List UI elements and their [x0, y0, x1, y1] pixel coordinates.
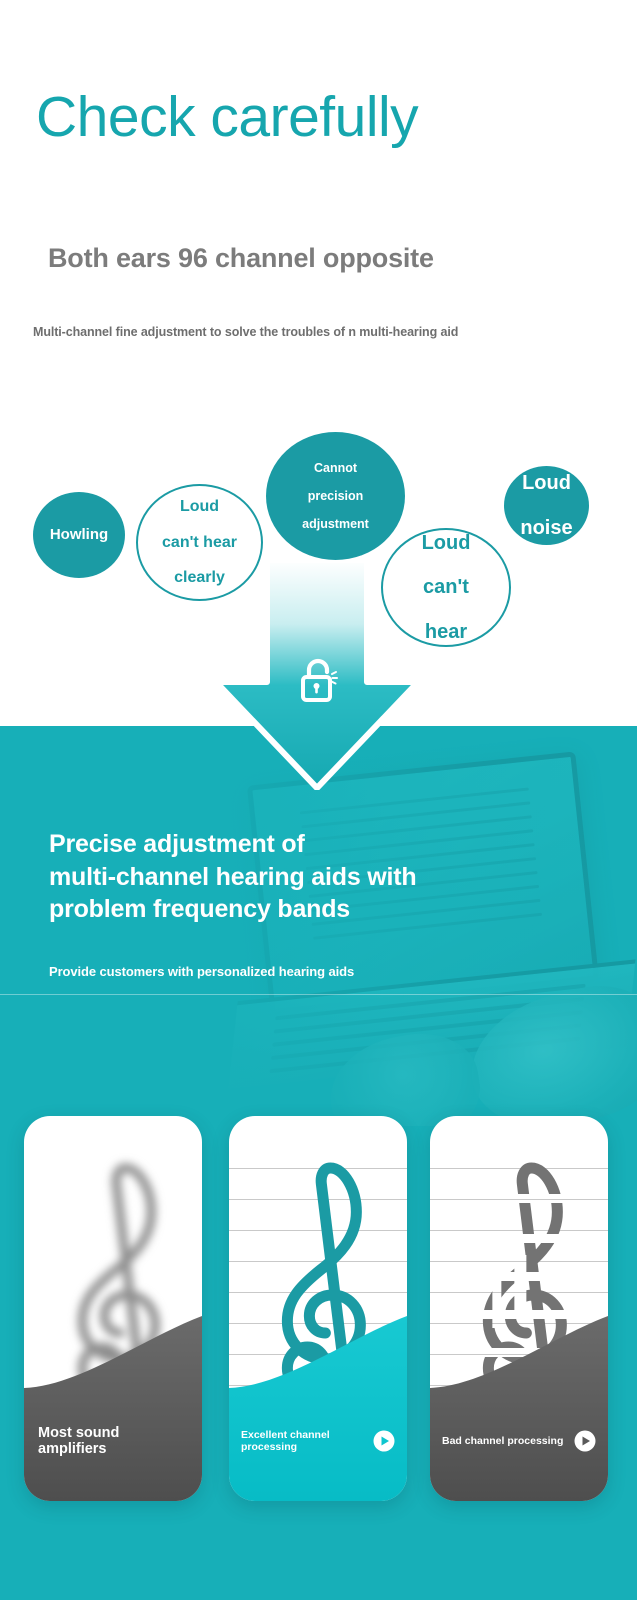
banner-title-line: multi-channel hearing aids with	[49, 861, 416, 894]
bubble-line: noise	[516, 517, 576, 539]
problem-bubble-cannot-precision-adjustment: Cannot precision adjustment	[266, 432, 405, 560]
unlock-icon	[296, 656, 340, 706]
bubble-line: can't hear	[158, 534, 241, 552]
comparison-cards: Most sound amplifiers	[0, 1116, 637, 1536]
problem-bubble-howling: Howling	[33, 492, 125, 578]
play-icon[interactable]	[574, 1430, 596, 1452]
banner-title: Precise adjustment of multi-channel hear…	[49, 828, 416, 926]
card-most-sound-amplifiers[interactable]: Most sound amplifiers	[24, 1116, 202, 1501]
card-label: Excellent channel processing	[229, 1381, 407, 1501]
page-title: Check carefully	[36, 88, 418, 148]
promo-page: Check carefully Both ears 96 channel opp…	[0, 0, 637, 1600]
down-arrow	[206, 560, 428, 790]
banner-divider	[0, 994, 637, 995]
bubble-line: Howling	[46, 527, 112, 544]
card-label-text: Excellent channel processing	[241, 1429, 373, 1453]
problem-bubble-loud-noise: Loud noise	[504, 466, 589, 545]
play-icon[interactable]	[373, 1430, 395, 1452]
card-label: Most sound amplifiers	[24, 1381, 202, 1501]
card-excellent-channel-processing[interactable]: Excellent channel processing	[229, 1116, 407, 1501]
card-bad-channel-processing[interactable]: Bad channel processing	[430, 1116, 608, 1501]
bubble-line: adjustment	[298, 517, 373, 531]
card-label: Bad channel processing	[430, 1381, 608, 1501]
bubble-line: Loud	[418, 532, 475, 554]
bubble-line: Cannot	[298, 461, 373, 475]
bubble-line: Loud	[516, 472, 576, 494]
page-caption: Multi-channel fine adjustment to solve t…	[33, 325, 458, 339]
card-label-text: Most sound amplifiers	[38, 1425, 188, 1457]
bubble-line: Loud	[158, 498, 241, 516]
page-subtitle: Both ears 96 channel opposite	[48, 243, 434, 274]
bubble-line: precision	[298, 489, 373, 503]
banner-caption: Provide customers with personalized hear…	[49, 964, 354, 979]
banner-title-line: Precise adjustment of	[49, 828, 416, 861]
card-label-text: Bad channel processing	[442, 1435, 563, 1447]
banner-section: Precise adjustment of multi-channel hear…	[0, 726, 637, 1600]
banner-title-line: problem frequency bands	[49, 893, 416, 926]
